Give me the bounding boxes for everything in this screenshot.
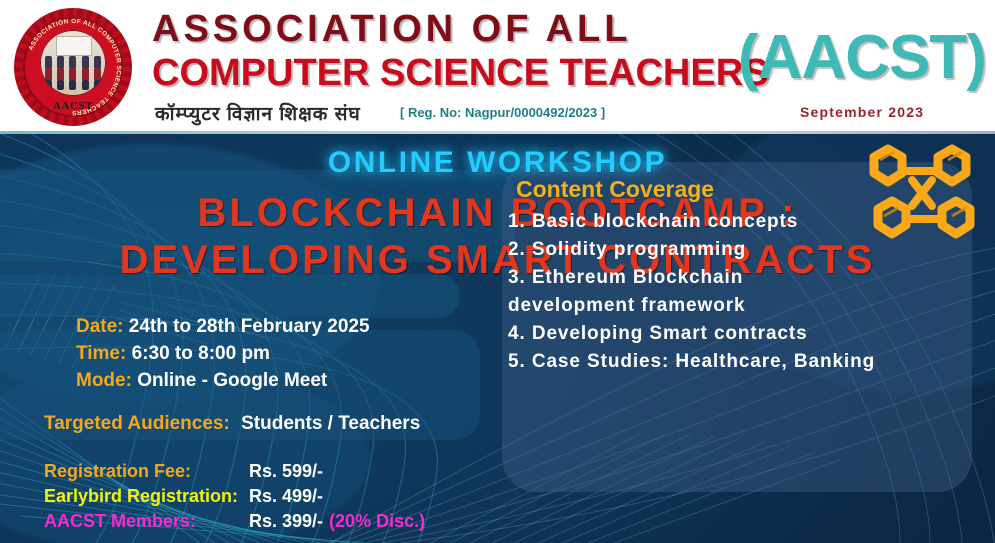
fee-value-earlybird: Rs. 499/- xyxy=(249,484,323,509)
audience-label: Targeted Audiences: xyxy=(44,413,230,434)
content-coverage-list: 1. Basic blockchain concepts 2. Solidity… xyxy=(508,208,988,376)
photo-people-row xyxy=(42,80,104,90)
content-item: 4. Developing Smart contracts xyxy=(508,320,988,348)
fee-label-members: AACST Members: xyxy=(44,509,249,534)
workshop-poster: ASSOCIATION OF ALL COMPUTER SCIENCE TEAC… xyxy=(0,0,995,543)
org-name-line-1: ASSOCIATION OF ALL xyxy=(152,8,631,51)
mode-label: Mode: xyxy=(76,370,132,391)
content-item: 1. Basic blockchain concepts xyxy=(508,208,988,236)
workshop-kicker: ONLINE WORKSHOP xyxy=(0,146,995,180)
time-value: 6:30 to 8:00 pm xyxy=(132,343,270,364)
audience-value: Students / Teachers xyxy=(235,413,420,434)
fee-note-members: (20% Disc.) xyxy=(323,509,425,534)
fee-row: AACST Members: Rs. 399/- (20% Disc.) xyxy=(44,509,425,534)
fee-row: Earlybird Registration: Rs. 499/- xyxy=(44,484,425,509)
org-name-line-2: COMPUTER SCIENCE TEACHERS xyxy=(152,52,769,95)
schedule-time-row: Time: 6:30 to 8:00 pm xyxy=(76,343,270,365)
registration-number: [ Reg. No: Nagpur/0000492/2023 ] xyxy=(400,105,605,120)
fee-row: Registration Fee: Rs. 599/- xyxy=(44,459,425,484)
aacst-logo-seal: ASSOCIATION OF ALL COMPUTER SCIENCE TEAC… xyxy=(12,6,134,128)
content-item-continued: development framework xyxy=(508,292,988,320)
schedule-date-row: Date: 24th to 28th February 2025 xyxy=(76,316,370,338)
seal-classroom-photo xyxy=(40,30,106,96)
mode-value: Online - Google Meet xyxy=(137,370,327,391)
content-item: 2. Solidity programming xyxy=(508,236,988,264)
date-label: Date: xyxy=(76,316,124,337)
seal-abbreviation: AACST xyxy=(12,100,134,112)
schedule-mode-row: Mode: Online - Google Meet xyxy=(76,370,327,392)
content-coverage-title: Content Coverage xyxy=(516,176,714,203)
fee-label-earlybird: Earlybird Registration: xyxy=(44,484,249,509)
fees-table: Registration Fee: Rs. 599/- Earlybird Re… xyxy=(44,459,425,534)
time-label: Time: xyxy=(76,343,126,364)
org-acronym: (AACST) xyxy=(738,22,986,93)
date-value: 24th to 28th February 2025 xyxy=(129,316,370,337)
poster-body: ONLINE WORKSHOP BLOCKCHAIN BOOTCAMP : DE… xyxy=(0,134,995,543)
organization-header: ASSOCIATION OF ALL COMPUTER SCIENCE TEAC… xyxy=(0,0,995,134)
content-item: 3. Ethereum Blockchain xyxy=(508,264,988,292)
targeted-audiences-row: Targeted Audiences: Students / Teachers xyxy=(44,413,420,435)
content-item: 5. Case Studies: Healthcare, Banking xyxy=(508,348,988,376)
fee-label-registration: Registration Fee: xyxy=(44,459,249,484)
photo-whiteboard xyxy=(56,36,92,56)
fee-value-members: Rs. 399/- xyxy=(249,509,323,534)
fee-value-registration: Rs. 599/- xyxy=(249,459,323,484)
established-date: September 2023 xyxy=(800,104,924,120)
org-name-hindi: कॉम्प्युटर विज्ञान शिक्षक संघ xyxy=(155,100,361,126)
